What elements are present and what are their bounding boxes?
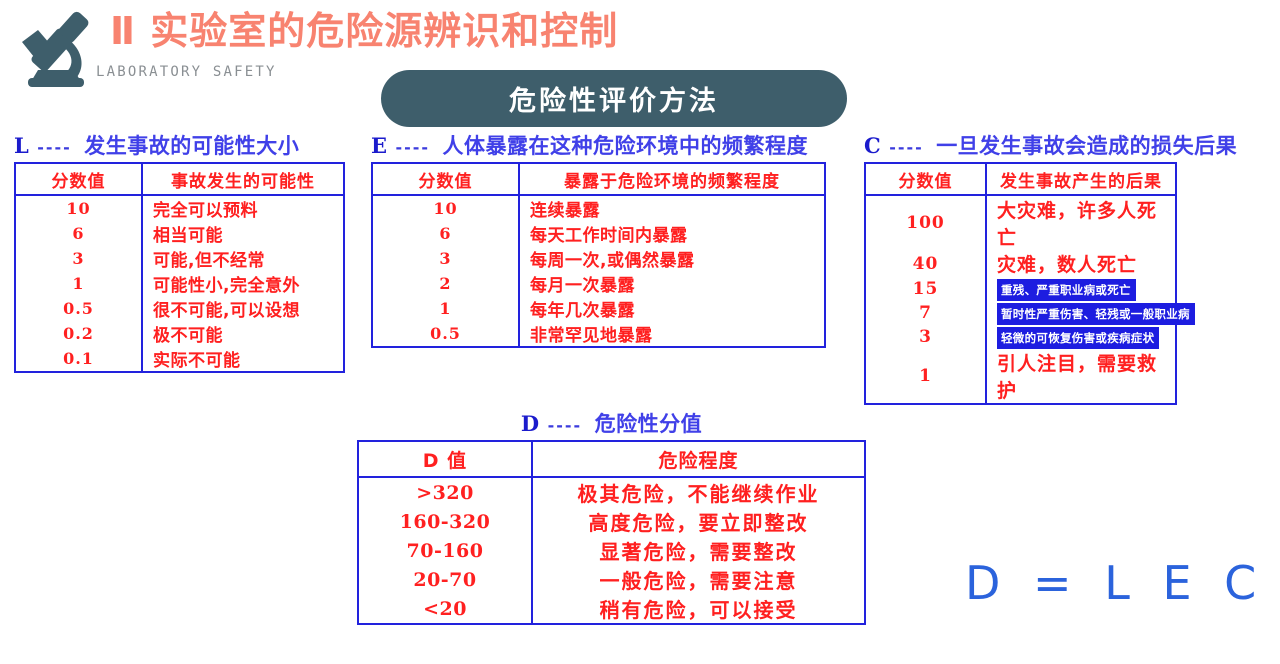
cell-score: 6 (372, 221, 519, 246)
table-row: 7 暂时性严重伤害、轻残或一般职业病 (865, 301, 1176, 325)
column-header-level: 危险程度 (532, 441, 865, 477)
cell-score: 7 (865, 301, 986, 325)
cell-score: 1 (15, 271, 142, 296)
table-header-row: D 值 危险程度 (358, 441, 865, 477)
table-row: 20-70一般危险，需要注意 (358, 565, 865, 594)
table-header-row: 分数值 发生事故产生的后果 (865, 163, 1176, 195)
cell-desc: 完全可以预料 (142, 195, 344, 221)
factor-heading-L: L ---- 发生事故的可能性大小 (14, 134, 345, 158)
factor-code-L: L (14, 133, 29, 158)
factor-block-L: L ---- 发生事故的可能性大小 分数值 事故发生的可能性 10完全可以预料 … (14, 134, 345, 373)
cell-score: 3 (372, 246, 519, 271)
factor-heading-C: C ---- 一旦发生事故会造成的损失后果 (864, 134, 1237, 158)
table-row: 0.5很不可能,可以设想 (15, 296, 344, 321)
cell-desc: 每周一次,或偶然暴露 (519, 246, 825, 271)
cell-score: 1 (865, 349, 986, 404)
section-title-pill: 危险性评价方法 (381, 70, 847, 127)
factor-code-D: D (521, 411, 539, 436)
cell-level: 极其危险，不能继续作业 (532, 477, 865, 507)
cell-desc: 引人注目，需要救护 (986, 349, 1176, 404)
column-header-desc: 发生事故产生的后果 (986, 163, 1176, 195)
column-header-desc: 暴露于危险环境的频繁程度 (519, 163, 825, 195)
column-header-score: 分数值 (372, 163, 519, 195)
table-row: 3 轻微的可恢复伤害或疾病症状 (865, 325, 1176, 349)
cell-desc-highlighted: 重残、严重职业病或死亡 (986, 277, 1176, 301)
cell-dvalue: <20 (358, 594, 532, 624)
factor-code-E: E (371, 133, 387, 158)
table-row: 15 重残、严重职业病或死亡 (865, 277, 1176, 301)
cell-dvalue: 70-160 (358, 536, 532, 565)
table-row: 1每年几次暴露 (372, 296, 825, 321)
cell-score: 6 (15, 221, 142, 246)
cell-dvalue: 160-320 (358, 507, 532, 536)
cell-desc: 可能,但不经常 (142, 246, 344, 271)
factor-dashes-D: ---- (546, 416, 581, 435)
highlighted-text: 暂时性严重伤害、轻残或一般职业病 (997, 303, 1195, 325)
page-title: Ⅱ 实验室的危险源辨识和控制 (110, 8, 618, 56)
factor-dashes-L: ---- (36, 138, 71, 157)
cell-score: 0.1 (15, 346, 142, 372)
cell-level: 高度危险，要立即整改 (532, 507, 865, 536)
table-row: 6相当可能 (15, 221, 344, 246)
factor-heading-text-L: 发生事故的可能性大小 (84, 134, 299, 158)
table-row: <20稍有危险，可以接受 (358, 594, 865, 624)
table-row: 6每天工作时间内暴露 (372, 221, 825, 246)
section-title-label: 危险性评价方法 (509, 79, 719, 118)
cell-desc: 非常罕见地暴露 (519, 321, 825, 347)
table-row: 70-160显著危险，需要整改 (358, 536, 865, 565)
column-header-dvalue: D 值 (358, 441, 532, 477)
cell-score: 100 (865, 195, 986, 250)
cell-score: 10 (15, 195, 142, 221)
microscope-icon (10, 8, 102, 94)
table-header-row: 分数值 事故发生的可能性 (15, 163, 344, 195)
highlighted-text: 重残、严重职业病或死亡 (997, 279, 1136, 301)
cell-desc: 极不可能 (142, 321, 344, 346)
table-C: 分数值 发生事故产生的后果 100 大灾难，许多人死亡 40 灾难，数人死亡 1… (864, 162, 1177, 405)
factor-heading-D: D ---- 危险性分值 (357, 412, 866, 436)
slide-header: Ⅱ 实验室的危险源辨识和控制 LABORATORY SAFETY 危险性评价方法 (0, 0, 1280, 132)
cell-desc: 灾难，数人死亡 (986, 250, 1176, 277)
cell-desc: 每月一次暴露 (519, 271, 825, 296)
table-row: 1 引人注目，需要救护 (865, 349, 1176, 404)
cell-desc: 每天工作时间内暴露 (519, 221, 825, 246)
factor-dashes-C: ---- (888, 138, 923, 157)
table-row: 0.5非常罕见地暴露 (372, 321, 825, 347)
cell-score: 15 (865, 277, 986, 301)
cell-desc: 每年几次暴露 (519, 296, 825, 321)
factor-block-C: C ---- 一旦发生事故会造成的损失后果 分数值 发生事故产生的后果 100 … (864, 134, 1237, 405)
table-D: D 值 危险程度 >320极其危险，不能继续作业 160-320高度危险，要立即… (357, 440, 866, 625)
formula-dlec: D = L E C (965, 556, 1265, 610)
table-E: 分数值 暴露于危险环境的频繁程度 10连续暴露 6每天工作时间内暴露 3每周一次… (371, 162, 826, 348)
table-row: 0.1实际不可能 (15, 346, 344, 372)
column-header-score: 分数值 (15, 163, 142, 195)
page-subtitle: LABORATORY SAFETY (96, 64, 277, 80)
table-row: 3可能,但不经常 (15, 246, 344, 271)
factor-dashes-E: ---- (394, 138, 429, 157)
table-row: 100 大灾难，许多人死亡 (865, 195, 1176, 250)
cell-desc-highlighted: 轻微的可恢复伤害或疾病症状 (986, 325, 1176, 349)
column-header-desc: 事故发生的可能性 (142, 163, 344, 195)
cell-score: 0.5 (372, 321, 519, 347)
cell-level: 显著危险，需要整改 (532, 536, 865, 565)
table-L: 分数值 事故发生的可能性 10完全可以预料 6相当可能 3可能,但不经常 1可能… (14, 162, 345, 373)
table-row: 40 灾难，数人死亡 (865, 250, 1176, 277)
table-row: >320极其危险，不能继续作业 (358, 477, 865, 507)
table-row: 2每月一次暴露 (372, 271, 825, 296)
table-row: 0.2极不可能 (15, 321, 344, 346)
table-header-row: 分数值 暴露于危险环境的频繁程度 (372, 163, 825, 195)
factor-heading-text-D: 危险性分值 (595, 412, 703, 436)
factor-block-D: D ---- 危险性分值 D 值 危险程度 >320极其危险，不能继续作业 16… (357, 412, 866, 625)
cell-level: 一般危险，需要注意 (532, 565, 865, 594)
factor-heading-E: E ---- 人体暴露在这种危险环境中的频繁程度 (371, 134, 826, 158)
cell-desc: 实际不可能 (142, 346, 344, 372)
cell-score: 40 (865, 250, 986, 277)
column-header-score: 分数值 (865, 163, 986, 195)
table-row: 3每周一次,或偶然暴露 (372, 246, 825, 271)
factor-heading-text-E: 人体暴露在这种危险环境中的频繁程度 (442, 134, 808, 158)
cell-desc: 连续暴露 (519, 195, 825, 221)
table-row: 10连续暴露 (372, 195, 825, 221)
cell-desc: 相当可能 (142, 221, 344, 246)
cell-desc: 可能性小,完全意外 (142, 271, 344, 296)
table-row: 10完全可以预料 (15, 195, 344, 221)
cell-score: 0.5 (15, 296, 142, 321)
cell-score: 2 (372, 271, 519, 296)
table-row: 160-320高度危险，要立即整改 (358, 507, 865, 536)
cell-dvalue: >320 (358, 477, 532, 507)
cell-score: 1 (372, 296, 519, 321)
factor-heading-text-C: 一旦发生事故会造成的损失后果 (936, 134, 1237, 158)
cell-dvalue: 20-70 (358, 565, 532, 594)
cell-score: 0.2 (15, 321, 142, 346)
cell-desc: 很不可能,可以设想 (142, 296, 344, 321)
factor-block-E: E ---- 人体暴露在这种危险环境中的频繁程度 分数值 暴露于危险环境的频繁程… (371, 134, 826, 348)
cell-score: 3 (865, 325, 986, 349)
highlighted-text: 轻微的可恢复伤害或疾病症状 (997, 327, 1159, 349)
cell-score: 3 (15, 246, 142, 271)
cell-desc: 大灾难，许多人死亡 (986, 195, 1176, 250)
cell-level: 稍有危险，可以接受 (532, 594, 865, 624)
factor-code-C: C (864, 133, 881, 158)
cell-score: 10 (372, 195, 519, 221)
table-row: 1可能性小,完全意外 (15, 271, 344, 296)
cell-desc-highlighted: 暂时性严重伤害、轻残或一般职业病 (986, 301, 1176, 325)
